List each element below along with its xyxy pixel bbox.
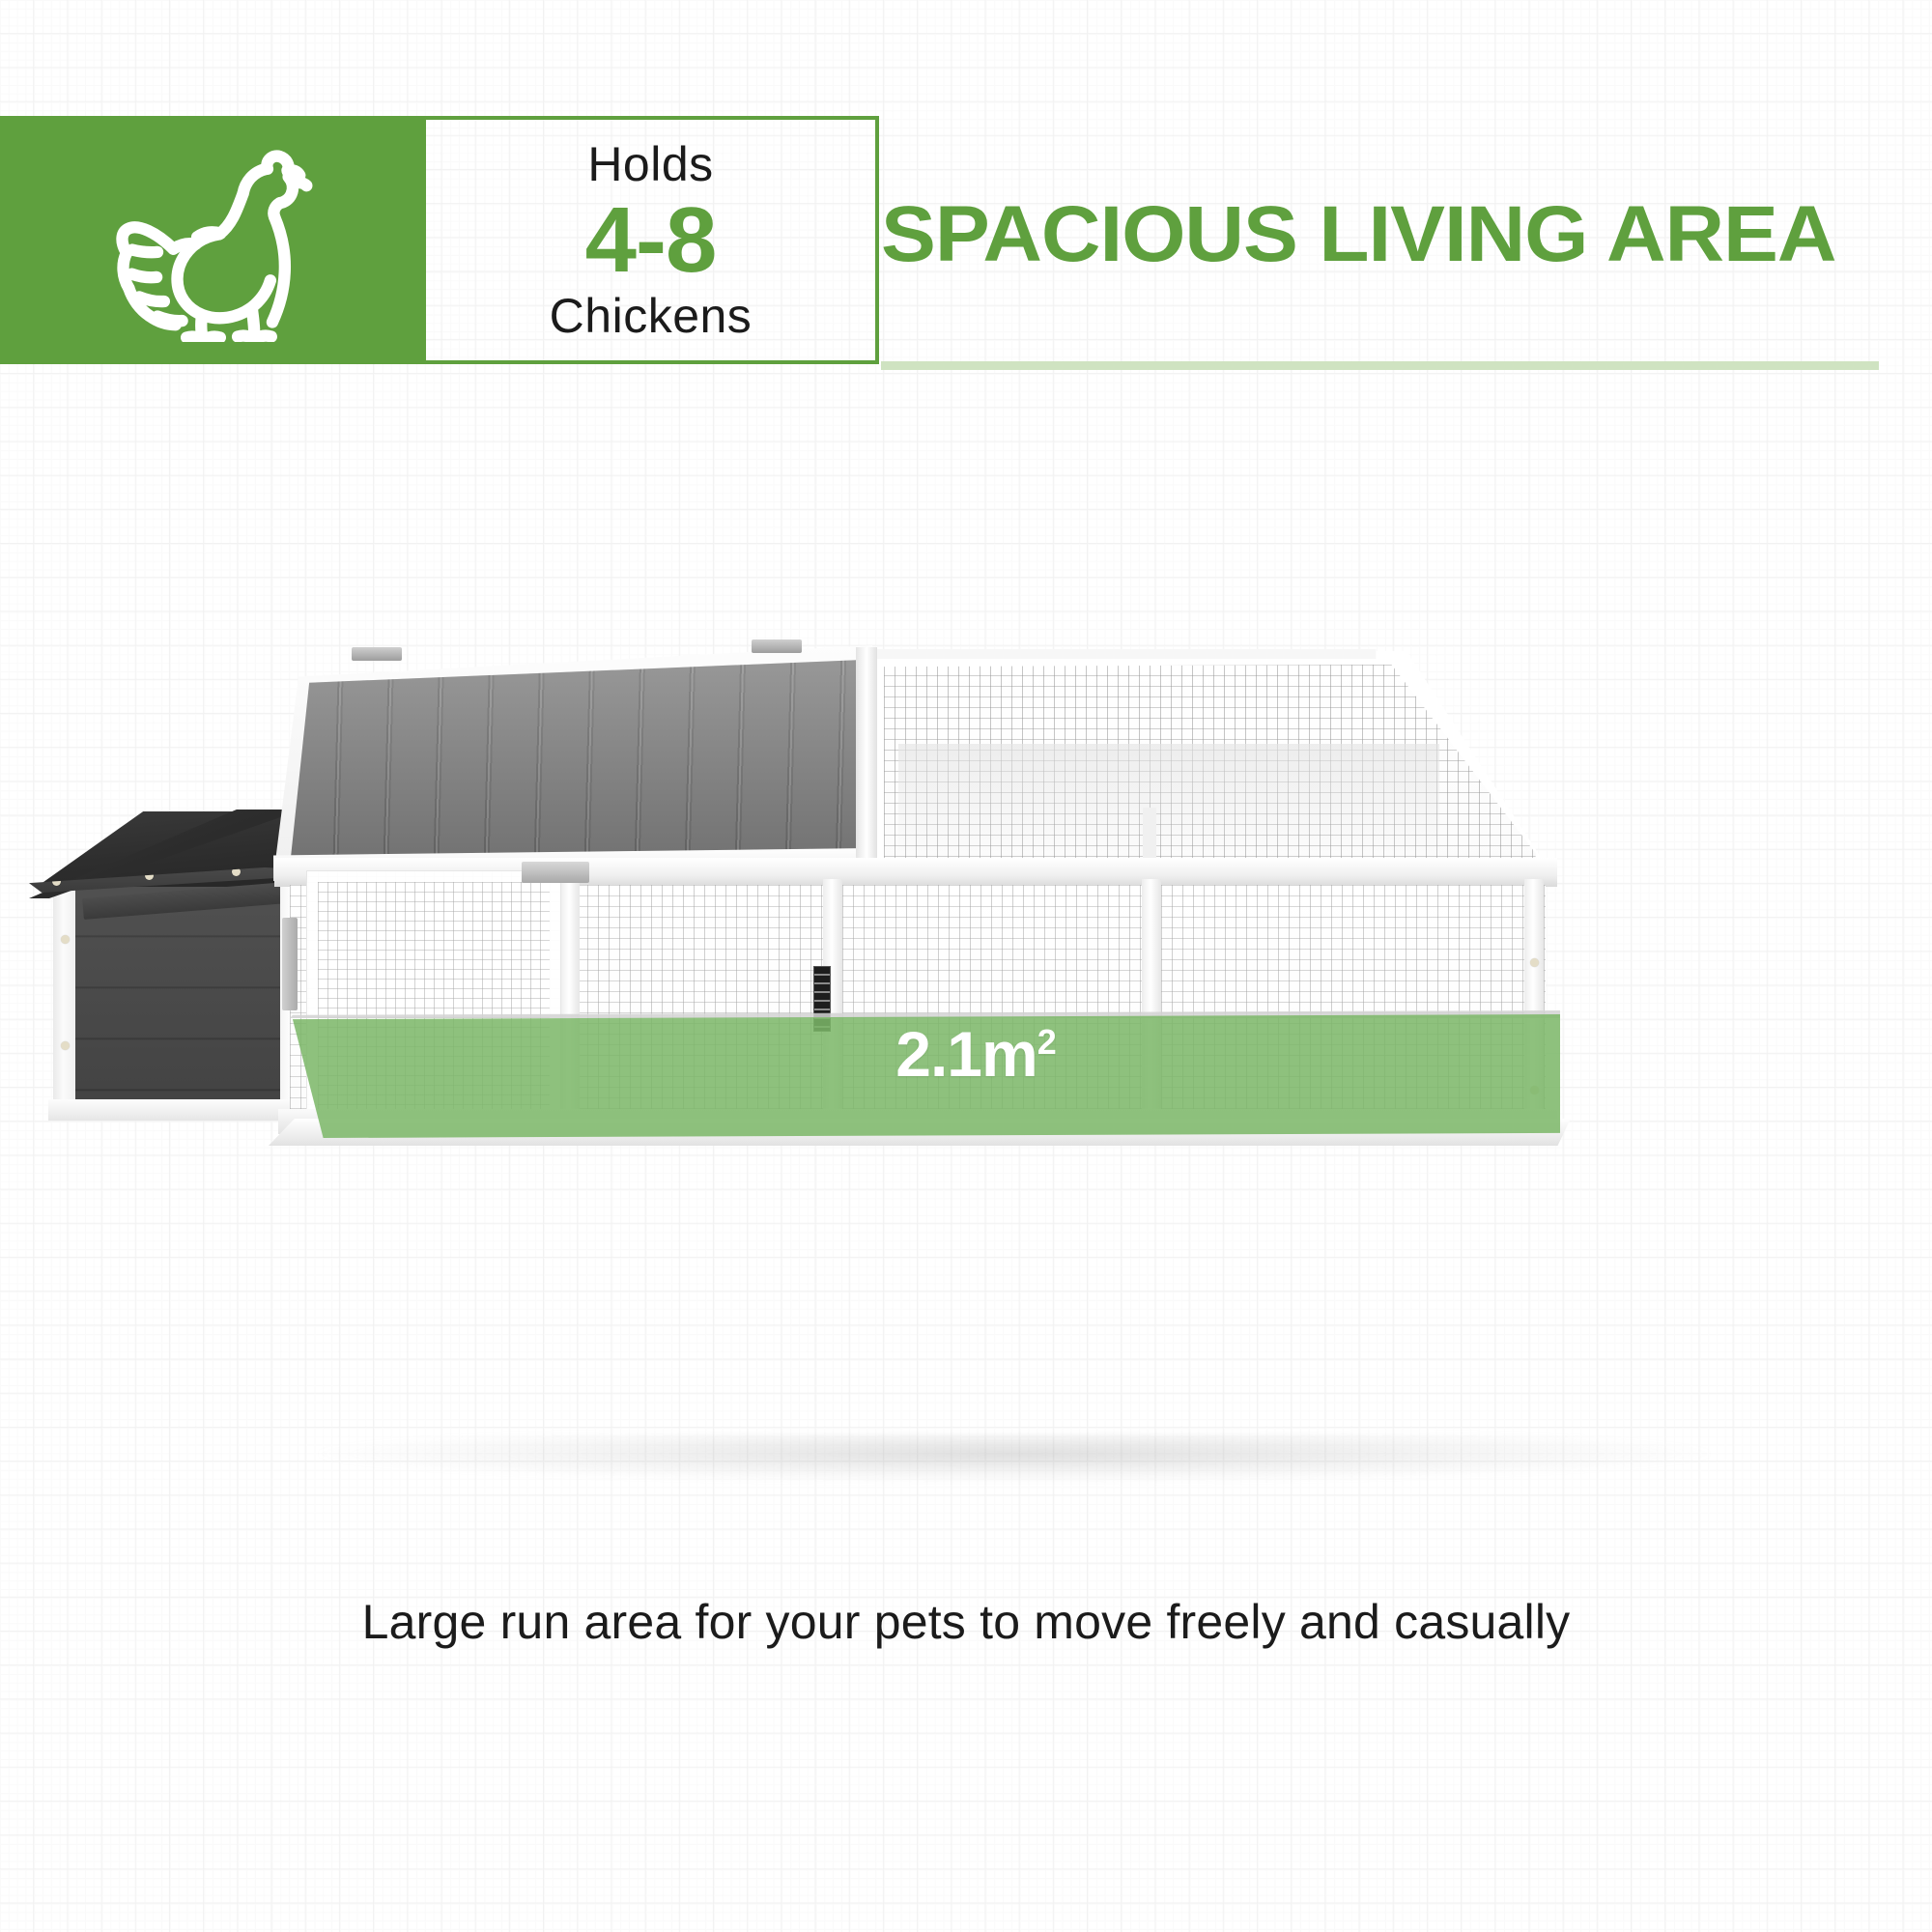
capacity-box: Holds 4-8 Chickens <box>426 116 879 364</box>
area-exponent: 2 <box>1037 1022 1056 1062</box>
run-gable-post <box>1143 808 1156 864</box>
area-unit: m <box>981 1018 1037 1090</box>
nestbox-base <box>48 1099 315 1121</box>
capacity-value: 4-8 <box>585 188 717 293</box>
title-block: SPACIOUS LIVING AREA <box>881 116 1905 364</box>
chicken-icon <box>99 139 328 342</box>
capacity-top-label: Holds <box>587 140 713 188</box>
title-underline <box>881 361 1879 370</box>
area-value-label: 2.1m2 <box>831 1022 1121 1086</box>
roof-hinge-left[interactable] <box>352 647 402 661</box>
page-title: SPACIOUS LIVING AREA <box>881 195 1835 274</box>
coop-divider-post <box>856 647 877 889</box>
door-hinge-side[interactable] <box>282 918 298 1010</box>
roof-hinge-right[interactable] <box>752 639 802 653</box>
caption-text: Large run area for your pets to move fre… <box>0 1594 1932 1650</box>
area-number: 2.1 <box>895 1018 981 1090</box>
coop-roof-slats <box>290 659 862 867</box>
chicken-icon-badge <box>0 116 426 364</box>
header: Holds 4-8 Chickens SPACIOUS LIVING AREA <box>0 116 1932 365</box>
run-gable-inner-shade <box>898 744 1439 855</box>
product-illustration: 2.1m2 <box>0 618 1932 1468</box>
nestbox-panel <box>75 887 282 1101</box>
capacity-bottom-label: Chickens <box>550 292 753 340</box>
ground-shadow <box>319 1435 1710 1483</box>
door-hinge-top[interactable] <box>522 862 589 883</box>
run-gable-ridge <box>872 649 1510 659</box>
